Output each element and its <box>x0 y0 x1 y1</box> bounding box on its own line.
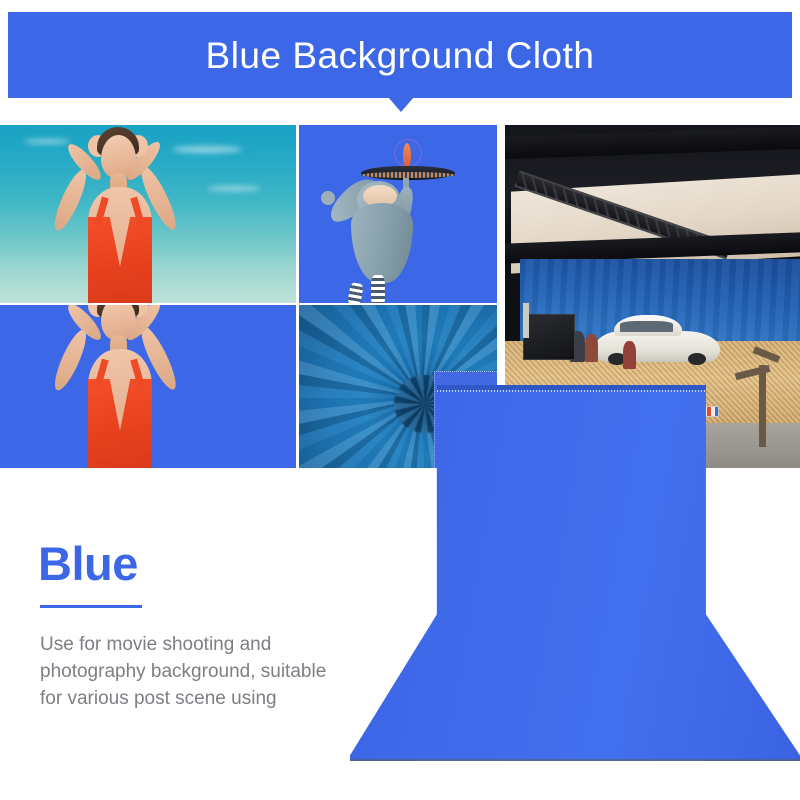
header-banner: Blue Background Cloth <box>8 12 792 98</box>
studio-crew-person <box>623 341 636 368</box>
toy-hat-tip <box>321 191 335 205</box>
studio-car-window <box>620 321 673 333</box>
studio-light-panel <box>523 314 575 361</box>
gallery-image-model-on-sky <box>0 125 296 303</box>
studio-reflector-stand <box>523 303 529 337</box>
down-triangle-icon <box>388 97 414 112</box>
heading-underline <box>40 605 142 608</box>
description-text: Use for movie shooting and photography b… <box>40 632 352 713</box>
page-title: Blue Background Cloth <box>206 37 595 74</box>
description-block: Blue Use for movie shooting and photogra… <box>38 540 368 713</box>
toy-leg-left <box>371 275 385 303</box>
gallery-image-toy-figure-on-blue <box>299 125 497 303</box>
studio-crew-person <box>585 334 598 361</box>
gallery-image-model-on-blue-screen <box>0 305 296 468</box>
cloth-top-seam <box>437 390 706 392</box>
cloth-floor-shadow <box>350 759 800 761</box>
color-name-heading: Blue <box>38 540 368 587</box>
cloud-wisp-icon <box>207 186 261 191</box>
studio-car-wheel-rear <box>688 353 706 365</box>
product-hanging-cloth <box>350 385 800 761</box>
product-infographic-page: Blue Background Cloth <box>0 0 800 800</box>
mini-figure <box>403 143 411 167</box>
cloth-sweep-shape <box>350 385 800 761</box>
